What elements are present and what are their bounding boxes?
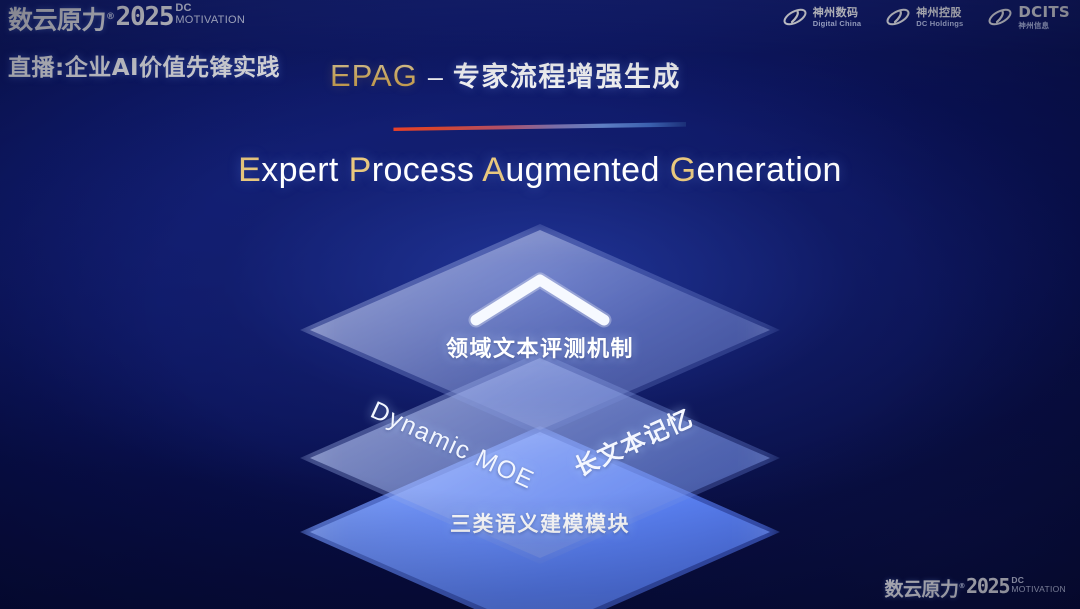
brand-dc-label: DC (175, 3, 245, 14)
swoosh-icon (782, 7, 808, 27)
partner-logo-dc-holdings: 神州控股 DC Holdings (885, 7, 963, 27)
live-session-label: 直播:企业AI价值先锋实践 (8, 48, 280, 82)
watermark-dc-label: DC (1011, 576, 1066, 585)
subtitle-word-generation: Generation (670, 151, 842, 189)
subtitle-word-augmented: Augmented (482, 151, 660, 189)
partner-name-en: Digital China (813, 20, 861, 28)
registered-mark-icon: ® (106, 12, 115, 22)
partner-name-cn: DCITS (1018, 5, 1070, 21)
chevron-up-icon (466, 268, 614, 330)
layer-plate (310, 432, 770, 609)
stack-layer-bottom (310, 432, 770, 609)
stack-layer-top (310, 230, 770, 430)
layer-glow (300, 352, 780, 564)
brand-dc-motivation: DC MOTIVATION (175, 3, 245, 26)
layer-plate (310, 358, 770, 558)
partner-name-en: DC Holdings (916, 20, 963, 28)
watermark-name-cn: 数云原力® (884, 575, 965, 601)
brand-motivation-label: MOTIVATION (175, 15, 245, 26)
stack-layer-middle (310, 358, 770, 558)
watermark-motivation-label: MOTIVATION (1011, 585, 1066, 594)
subtitle-expansion: Expert Process Augmented Generation (0, 151, 1080, 190)
partner-logo-dcits: DCITS 神州信息 (987, 5, 1070, 30)
brand-name-cn: 数云原力® (8, 2, 115, 35)
registered-mark-icon: ® (958, 582, 965, 590)
swoosh-icon (987, 7, 1013, 27)
layer-glow (300, 224, 780, 436)
partner-text: 神州控股 DC Holdings (916, 7, 963, 27)
watermark-year: 2025 (966, 575, 1009, 598)
stack-label-top: 领域文本评测机制 (446, 331, 634, 363)
title-chinese: 专家流程增强生成 (453, 55, 681, 94)
layer-glow (300, 426, 780, 609)
partner-logo-group: 神州数码 Digital China 神州控股 DC Holdings (782, 5, 1070, 30)
partner-text: DCITS 神州信息 (1018, 5, 1070, 30)
stack-label-dynamic-moe: Dynamic MOE (366, 396, 539, 496)
watermark-dc-motivation: DC MOTIVATION (1011, 576, 1066, 594)
partner-name-cn: 神州数码 (813, 7, 861, 19)
stack-label-bottom: 三类语义建模模块 (450, 508, 630, 538)
layer-plate (310, 230, 770, 430)
partner-name-en: 神州信息 (1018, 22, 1070, 30)
partner-name-cn: 神州控股 (916, 7, 963, 19)
subtitle-word-expert: Expert (238, 151, 339, 189)
swoosh-icon (885, 7, 911, 27)
page-title: EPAG – 专家流程增强生成 (330, 55, 681, 94)
title-separator: – (428, 62, 443, 93)
gradient-divider (389, 122, 686, 131)
brand-year: 2025 (116, 2, 174, 32)
stack-label-long-text-memory: 长文本记忆 (567, 398, 698, 483)
title-acronym: EPAG (330, 58, 418, 94)
brand-lockup: 数云原力® 2025 DC MOTIVATION (8, 2, 245, 35)
watermark-brand-lockup: 数云原力® 2025 DC MOTIVATION (884, 575, 1066, 601)
subtitle-word-process: Process (349, 151, 475, 189)
partner-logo-digital-china: 神州数码 Digital China (782, 7, 861, 27)
partner-text: 神州数码 Digital China (813, 7, 861, 27)
slide-canvas: 数云原力® 2025 DC MOTIVATION 直播:企业AI价值先锋实践 神… (0, 0, 1080, 609)
